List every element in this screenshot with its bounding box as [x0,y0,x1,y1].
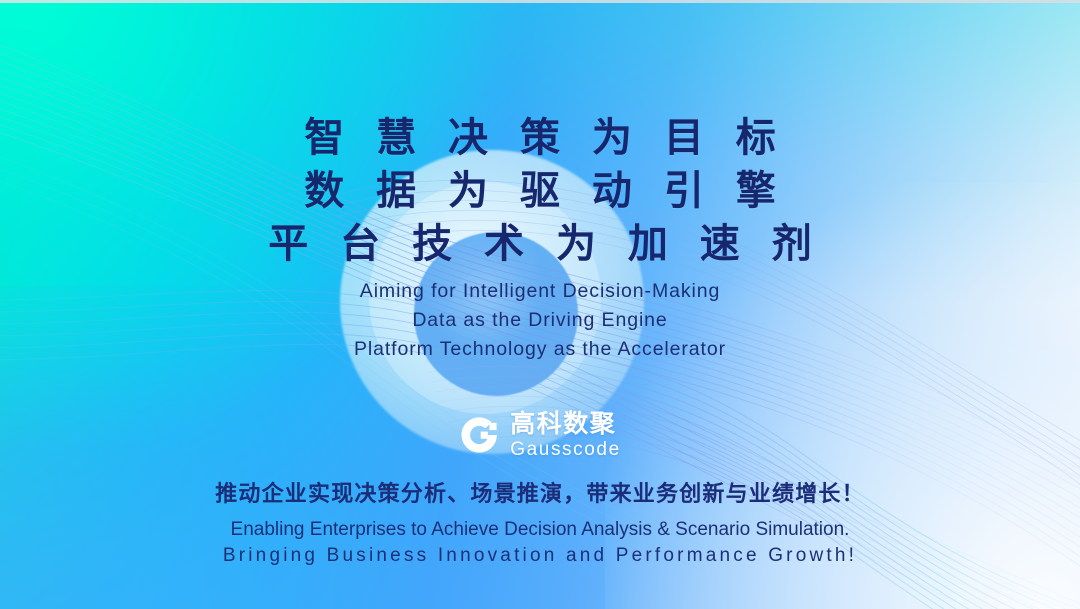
brand-name-cn: 高科数聚 [510,411,621,436]
headline-line-3: 平 台 技 术 为 加 速 剂 [259,218,820,271]
tagline-english-line-2: Bringing Business Innovation and Perform… [223,543,857,569]
banner-content: 智 慧 决 策 为 目 标 数 据 为 驱 动 引 擎 平 台 技 术 为 加 … [0,0,1080,609]
subheadline-line-2: Data as the Driving Engine [354,306,726,335]
tagline-english: Enabling Enterprises to Achieve Decision… [223,517,857,569]
gausscode-g-mark-icon [459,415,499,455]
tagline-chinese: 推动企业实现决策分析、场景推演，带来业务创新与业绩增长！ [215,476,865,508]
page-title: 智 慧 决 策 为 目 标 数 据 为 驱 动 引 擎 平 台 技 术 为 加 … [259,112,820,271]
subheadline-line-1: Aiming for Intelligent Decision-Making [354,277,726,306]
headline-line-1: 智 慧 决 策 为 目 标 [259,112,820,165]
subheadline-line-3: Platform Technology as the Accelerator [354,335,726,364]
headline-line-2: 数 据 为 驱 动 引 擎 [259,165,820,218]
brand-logo-text: 高科数聚 Gausscode [510,411,621,459]
brand-name-en: Gausscode [510,440,621,459]
promotional-banner: 智 慧 决 策 为 目 标 数 据 为 驱 动 引 擎 平 台 技 术 为 加 … [0,0,1080,609]
subheadline: Aiming for Intelligent Decision-Making D… [354,277,726,364]
brand-logo: 高科数聚 Gausscode [459,411,621,459]
tagline-english-line-1: Enabling Enterprises to Achieve Decision… [223,517,857,543]
